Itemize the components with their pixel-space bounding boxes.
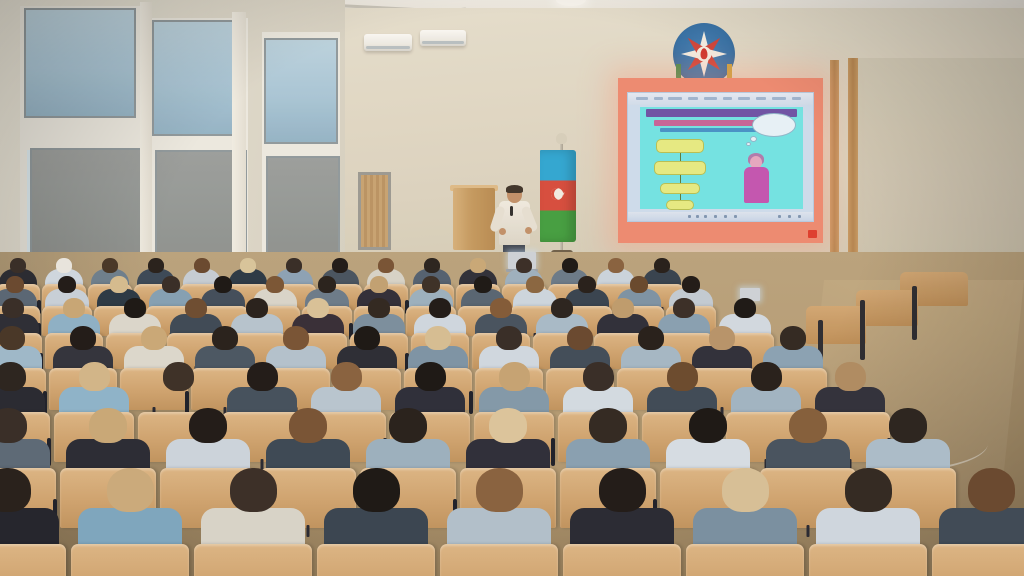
seat-rail [912, 286, 917, 340]
person-head [331, 362, 362, 391]
auditorium-seat[interactable] [317, 544, 435, 576]
person-head [489, 408, 527, 443]
person-head [682, 276, 700, 293]
flow-step-2 [654, 161, 706, 175]
person-head [318, 276, 336, 293]
person-head [354, 326, 380, 350]
auditorium-photo [0, 0, 1024, 576]
wall-pillar [140, 2, 152, 260]
lectern [453, 188, 495, 250]
wood-pilaster [830, 60, 839, 272]
person-head [654, 258, 670, 273]
person-head [845, 468, 892, 512]
auditorium-seat[interactable] [194, 544, 312, 576]
person-head [722, 468, 769, 512]
audience-seat-unit [809, 468, 932, 576]
person-head [79, 362, 110, 391]
person-head [0, 326, 25, 350]
slide-canvas [640, 107, 803, 209]
person-head [102, 258, 118, 273]
air-conditioner [364, 34, 412, 51]
person-head [496, 326, 522, 350]
person-head [589, 408, 627, 443]
person-head [0, 362, 26, 391]
person-head [551, 298, 573, 318]
person-head [141, 326, 167, 350]
person-head [734, 298, 756, 318]
door[interactable] [358, 172, 391, 250]
person-head [2, 298, 24, 318]
person-head [424, 258, 440, 273]
audience-row [0, 468, 1024, 576]
person-head [578, 276, 596, 293]
person-head [889, 408, 927, 443]
person-head [516, 258, 532, 273]
person-head [283, 326, 309, 350]
person-head [835, 362, 866, 391]
person-head [751, 362, 782, 391]
auditorium-seat[interactable] [809, 544, 927, 576]
person-head [689, 408, 727, 443]
air-conditioner [420, 30, 466, 46]
auditorium-seat[interactable] [563, 544, 681, 576]
person-head [56, 258, 72, 273]
window-upper-pane [264, 38, 338, 144]
projection-screen [618, 78, 823, 243]
slide-illustration [736, 145, 780, 207]
flow-arrow [680, 175, 681, 183]
person-head [425, 326, 451, 350]
person-head [0, 408, 27, 443]
window-blind-lower [30, 148, 142, 258]
auditorium-seat[interactable] [71, 544, 189, 576]
person-head [107, 468, 154, 512]
auditorium-seat[interactable] [0, 544, 66, 576]
presenter-hand-left [499, 228, 506, 235]
person-head [780, 326, 806, 350]
person-head [246, 298, 268, 318]
person-head [490, 298, 512, 318]
audience-seat-unit [71, 468, 194, 576]
presenter-hand-right [525, 227, 532, 234]
person-head [608, 258, 624, 273]
person-head [429, 298, 451, 318]
person-head [289, 408, 327, 443]
illustration-body [744, 167, 769, 203]
person-head [189, 408, 227, 443]
state-emblem-icon [673, 23, 735, 85]
person-head [415, 362, 446, 391]
person-head [110, 276, 128, 293]
person-head [6, 276, 24, 293]
person-head [422, 276, 440, 293]
person-head [638, 326, 664, 350]
auditorium-seat[interactable] [686, 544, 804, 576]
person-head [389, 408, 427, 443]
person-head [673, 298, 695, 318]
person-head [247, 362, 278, 391]
right-wall-panel [858, 58, 1024, 274]
presenter-hair [506, 185, 523, 193]
flag-finial [556, 133, 567, 144]
window-light-gap [27, 150, 30, 256]
flow-arrow [680, 153, 681, 161]
flow-step-1 [656, 139, 704, 153]
auditorium-seat[interactable] [932, 544, 1024, 576]
window-blind-lower [266, 156, 340, 256]
person-head [709, 326, 735, 350]
audience-seat-unit [440, 468, 563, 576]
person-head [562, 258, 578, 273]
person-head [567, 326, 593, 350]
person-head [474, 276, 492, 293]
flame-icon [701, 48, 708, 59]
person-head [526, 276, 544, 293]
projector-logo-icon [808, 230, 817, 238]
person-head [240, 258, 256, 273]
person-head [185, 298, 207, 318]
person-head [58, 276, 76, 293]
person-head [307, 298, 329, 318]
person-head [476, 468, 523, 512]
person-head [89, 408, 127, 443]
person-head [370, 276, 388, 293]
microphone-icon [510, 206, 513, 216]
person-head [470, 258, 486, 273]
person-head [214, 276, 232, 293]
person-head [667, 362, 698, 391]
audience-seat-unit [194, 468, 317, 576]
person-head [378, 258, 394, 273]
audience-seat-unit [0, 468, 71, 576]
app-ribbon [628, 93, 813, 105]
audience-seat-unit [317, 468, 440, 576]
thought-bubble-dot [746, 142, 751, 146]
person-head [612, 298, 634, 318]
person-head [0, 468, 31, 512]
thought-bubble [752, 113, 796, 137]
person-head [332, 258, 348, 273]
person-head [148, 258, 164, 273]
person-head [968, 468, 1015, 512]
window-upper-pane [24, 8, 136, 118]
person-head [499, 362, 530, 391]
audience-seat-unit [563, 468, 686, 576]
person-head [194, 258, 210, 273]
person-head [212, 326, 238, 350]
person-head [266, 276, 284, 293]
window-upper-pane [152, 20, 242, 136]
wall-pillar [232, 12, 246, 260]
person-head [583, 362, 614, 391]
seat-rail [860, 300, 865, 360]
flow-step-3 [660, 183, 700, 194]
person-head [70, 326, 96, 350]
person-head [162, 276, 180, 293]
person-head [353, 468, 400, 512]
crescent-icon [551, 188, 563, 200]
auditorium-seat[interactable] [440, 544, 558, 576]
flow-step-4 [666, 200, 694, 210]
presenter [494, 186, 534, 258]
person-head [163, 362, 194, 391]
person-head [10, 258, 26, 273]
app-status-bar [628, 212, 813, 221]
person-head [368, 298, 390, 318]
audience-seat-unit [686, 468, 809, 576]
person-head [63, 298, 85, 318]
person-head [630, 276, 648, 293]
person-head [599, 468, 646, 512]
thought-bubble-dot [750, 136, 757, 142]
person-head [789, 408, 827, 443]
wood-pilaster [848, 58, 858, 272]
audience-seat-unit [932, 468, 1024, 576]
presentation-window [627, 92, 814, 222]
azerbaijan-flag [540, 150, 576, 242]
person-head [124, 298, 146, 318]
person-head [286, 258, 302, 273]
person-head [230, 468, 277, 512]
